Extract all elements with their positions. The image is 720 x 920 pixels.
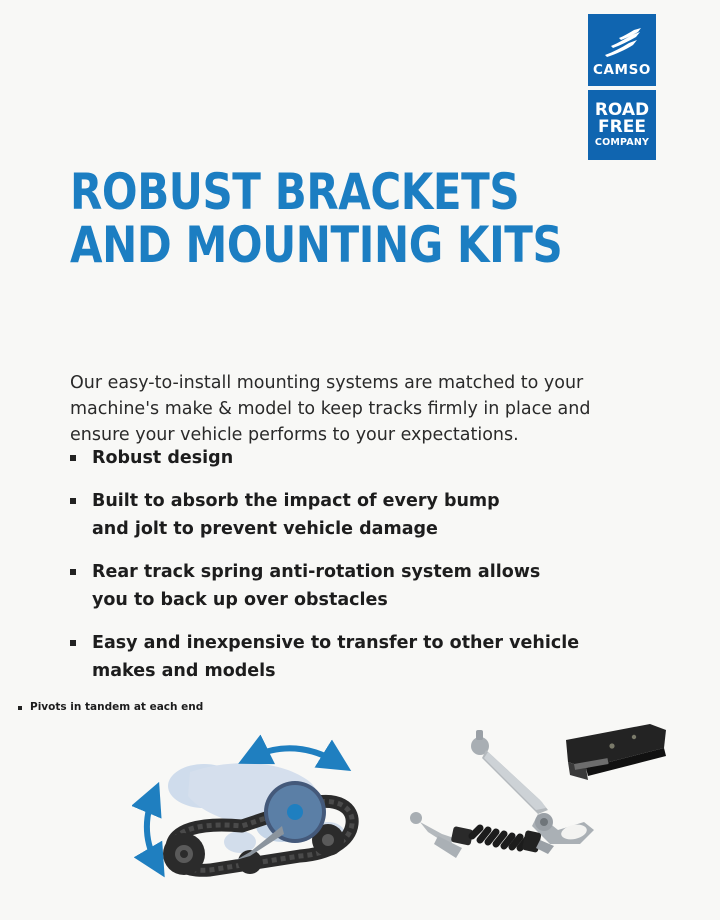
camso-logo-tile: CAMSO <box>588 14 656 86</box>
track-system-pivot-diagram <box>132 730 382 890</box>
bullet-label: Easy and inexpensive to transfer to othe… <box>92 629 579 685</box>
product-photos-svg <box>398 718 708 888</box>
figure-caption-label: Pivots in tandem at each end <box>30 700 203 714</box>
road-free-company-tile: ROAD FREE COMPANY <box>588 90 656 160</box>
track-spring-assembly <box>410 812 554 858</box>
bullet-label: Robust design <box>92 444 233 472</box>
mounting-bracket-plate <box>566 724 666 780</box>
square-bullet-icon <box>70 455 76 461</box>
bullet-label: Rear track spring anti-rotation system a… <box>92 558 540 614</box>
mounting-hardware-photos <box>398 718 708 888</box>
track-diagram-svg <box>132 730 382 890</box>
page-title-line-2: AND MOUNTING KITS <box>70 219 540 272</box>
square-bullet-icon <box>70 498 76 504</box>
list-item: Rear track spring anti-rotation system a… <box>70 558 640 614</box>
left-pivot-arrow-icon <box>147 794 158 866</box>
page-title-line-1: ROBUST BRACKETS <box>70 166 540 219</box>
camso-logo-block: CAMSO ROAD FREE COMPANY <box>588 14 656 160</box>
intro-paragraph: Our easy-to-install mounting systems are… <box>70 370 630 448</box>
square-bullet-icon <box>70 640 76 646</box>
top-pivot-arrow-icon <box>250 748 340 764</box>
road-free-line-2: FREE <box>598 119 646 136</box>
camso-wordmark: CAMSO <box>593 64 651 78</box>
square-bullet-icon <box>70 569 76 575</box>
figure-caption: Pivots in tandem at each end <box>18 700 203 714</box>
bullet-label: Built to absorb the impact of every bump… <box>92 487 500 543</box>
road-free-line-3: COMPANY <box>595 137 649 149</box>
feature-bullet-list: Robust design Built to absorb the impact… <box>70 444 640 700</box>
list-item: Robust design <box>70 444 640 472</box>
page-title: ROBUST BRACKETS AND MOUNTING KITS <box>70 166 630 272</box>
list-item: Built to absorb the impact of every bump… <box>70 487 640 543</box>
square-bullet-icon <box>18 706 22 710</box>
camso-track-mark-icon <box>599 28 645 62</box>
page-root: CAMSO ROAD FREE COMPANY ROBUST BRACKETS … <box>0 0 720 920</box>
list-item: Easy and inexpensive to transfer to othe… <box>70 629 640 685</box>
